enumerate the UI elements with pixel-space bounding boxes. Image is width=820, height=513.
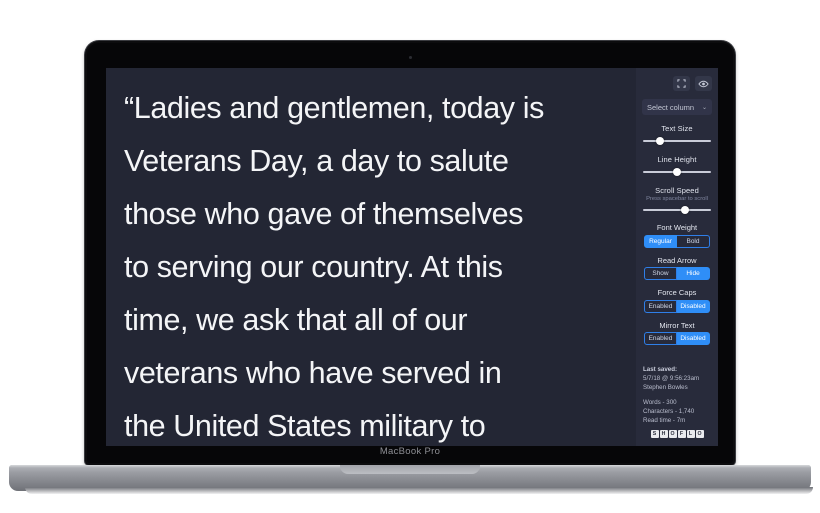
- force-caps-label: Force Caps: [641, 288, 713, 297]
- scroll-speed-slider[interactable]: [643, 204, 711, 215]
- read-arrow-label: Read Arrow: [641, 256, 713, 265]
- settings-sidebar: Select column ⌄ Text Size Line Height: [636, 68, 718, 446]
- font-weight-control: Font Weight Regular Bold: [641, 223, 713, 248]
- eye-icon[interactable]: [695, 76, 712, 91]
- last-saved-time: 5/7/18 @ 9:56:23am: [643, 374, 711, 383]
- laptop-lid: MacBook Pro “Ladies and gentlemen, today…: [85, 41, 735, 465]
- slider-track: [643, 209, 711, 211]
- font-weight-segmented: Regular Bold: [641, 235, 713, 248]
- character-count: Characters - 1,740: [643, 407, 711, 416]
- font-weight-label: Font Weight: [641, 223, 713, 232]
- mirror-text-label: Mirror Text: [641, 321, 713, 330]
- font-weight-option-regular[interactable]: Regular: [644, 235, 677, 248]
- line-height-label: Line Height: [641, 155, 713, 164]
- prompter-line: “Ladies and gentlemen, today is: [124, 82, 620, 135]
- shoflo-logo: S H O F L O: [643, 430, 711, 438]
- last-saved-user: Stephen Bowles: [643, 383, 711, 392]
- sidebar-icon-row: [641, 74, 713, 91]
- logo-letter: H: [660, 430, 668, 438]
- webcam-icon: [409, 56, 412, 59]
- chevron-down-icon: ⌄: [702, 104, 707, 111]
- font-weight-option-bold[interactable]: Bold: [677, 235, 710, 248]
- screen: “Ladies and gentlemen, today is Veterans…: [106, 68, 718, 446]
- laptop-bezel: MacBook Pro “Ladies and gentlemen, today…: [87, 43, 733, 463]
- logo-letter: S: [651, 430, 659, 438]
- mirror-text-control: Mirror Text Enabled Disabled: [641, 321, 713, 346]
- read-arrow-control: Read Arrow Show Hide: [641, 256, 713, 281]
- prompter-line: to serving our country. At this: [124, 241, 620, 294]
- text-size-control: Text Size: [641, 124, 713, 146]
- read-arrow-option-hide[interactable]: Hide: [677, 267, 710, 280]
- logo-letter: O: [669, 430, 677, 438]
- teleprompter-text-area[interactable]: “Ladies and gentlemen, today is Veterans…: [106, 68, 636, 446]
- logo-letter: O: [696, 430, 704, 438]
- read-time: Read time - 7m: [643, 416, 711, 425]
- read-arrow-option-show[interactable]: Show: [644, 267, 677, 280]
- last-saved-title: Last saved:: [643, 366, 677, 373]
- text-size-label: Text Size: [641, 124, 713, 133]
- logo-letter: L: [687, 430, 695, 438]
- line-height-slider[interactable]: [643, 166, 711, 177]
- mirror-text-option-disabled[interactable]: Disabled: [677, 332, 710, 345]
- prompter-line: the United States military to: [124, 400, 620, 446]
- mirror-text-option-enabled[interactable]: Enabled: [644, 332, 677, 345]
- prompter-line: time, we ask that all of our: [124, 294, 620, 347]
- column-select-dropdown[interactable]: Select column ⌄: [642, 99, 712, 115]
- mirror-text-segmented: Enabled Disabled: [641, 332, 713, 345]
- base-notch: [340, 465, 480, 474]
- document-meta: Last saved: 5/7/18 @ 9:56:23am Stephen B…: [643, 365, 711, 438]
- slider-track: [643, 140, 711, 142]
- slider-thumb[interactable]: [681, 206, 689, 214]
- prompter-line: veterans who have served in: [124, 347, 620, 400]
- slider-thumb[interactable]: [656, 137, 664, 145]
- force-caps-control: Force Caps Enabled Disabled: [641, 288, 713, 313]
- force-caps-option-enabled[interactable]: Enabled: [644, 300, 677, 313]
- column-select-label: Select column: [647, 103, 694, 112]
- force-caps-option-disabled[interactable]: Disabled: [677, 300, 710, 313]
- scroll-speed-label: Scroll Speed: [641, 186, 713, 195]
- fullscreen-icon[interactable]: [673, 76, 690, 91]
- force-caps-segmented: Enabled Disabled: [641, 300, 713, 313]
- laptop-base: [9, 465, 811, 491]
- macbook-pro-device: MacBook Pro “Ladies and gentlemen, today…: [0, 0, 820, 513]
- slider-thumb[interactable]: [673, 168, 681, 176]
- prompter-line: those who gave of themselves: [124, 188, 620, 241]
- scroll-speed-hint: Press spacebar to scroll: [641, 196, 713, 202]
- scroll-speed-control: Scroll Speed Press spacebar to scroll: [641, 186, 713, 215]
- logo-letter: F: [678, 430, 686, 438]
- text-size-slider[interactable]: [643, 135, 711, 146]
- base-bottom-edge: [25, 487, 813, 494]
- prompter-line: Veterans Day, a day to salute: [124, 135, 620, 188]
- word-count: Words - 300: [643, 398, 711, 407]
- line-height-control: Line Height: [641, 155, 713, 177]
- device-brand-label: MacBook Pro: [87, 446, 733, 457]
- read-arrow-segmented: Show Hide: [641, 267, 713, 280]
